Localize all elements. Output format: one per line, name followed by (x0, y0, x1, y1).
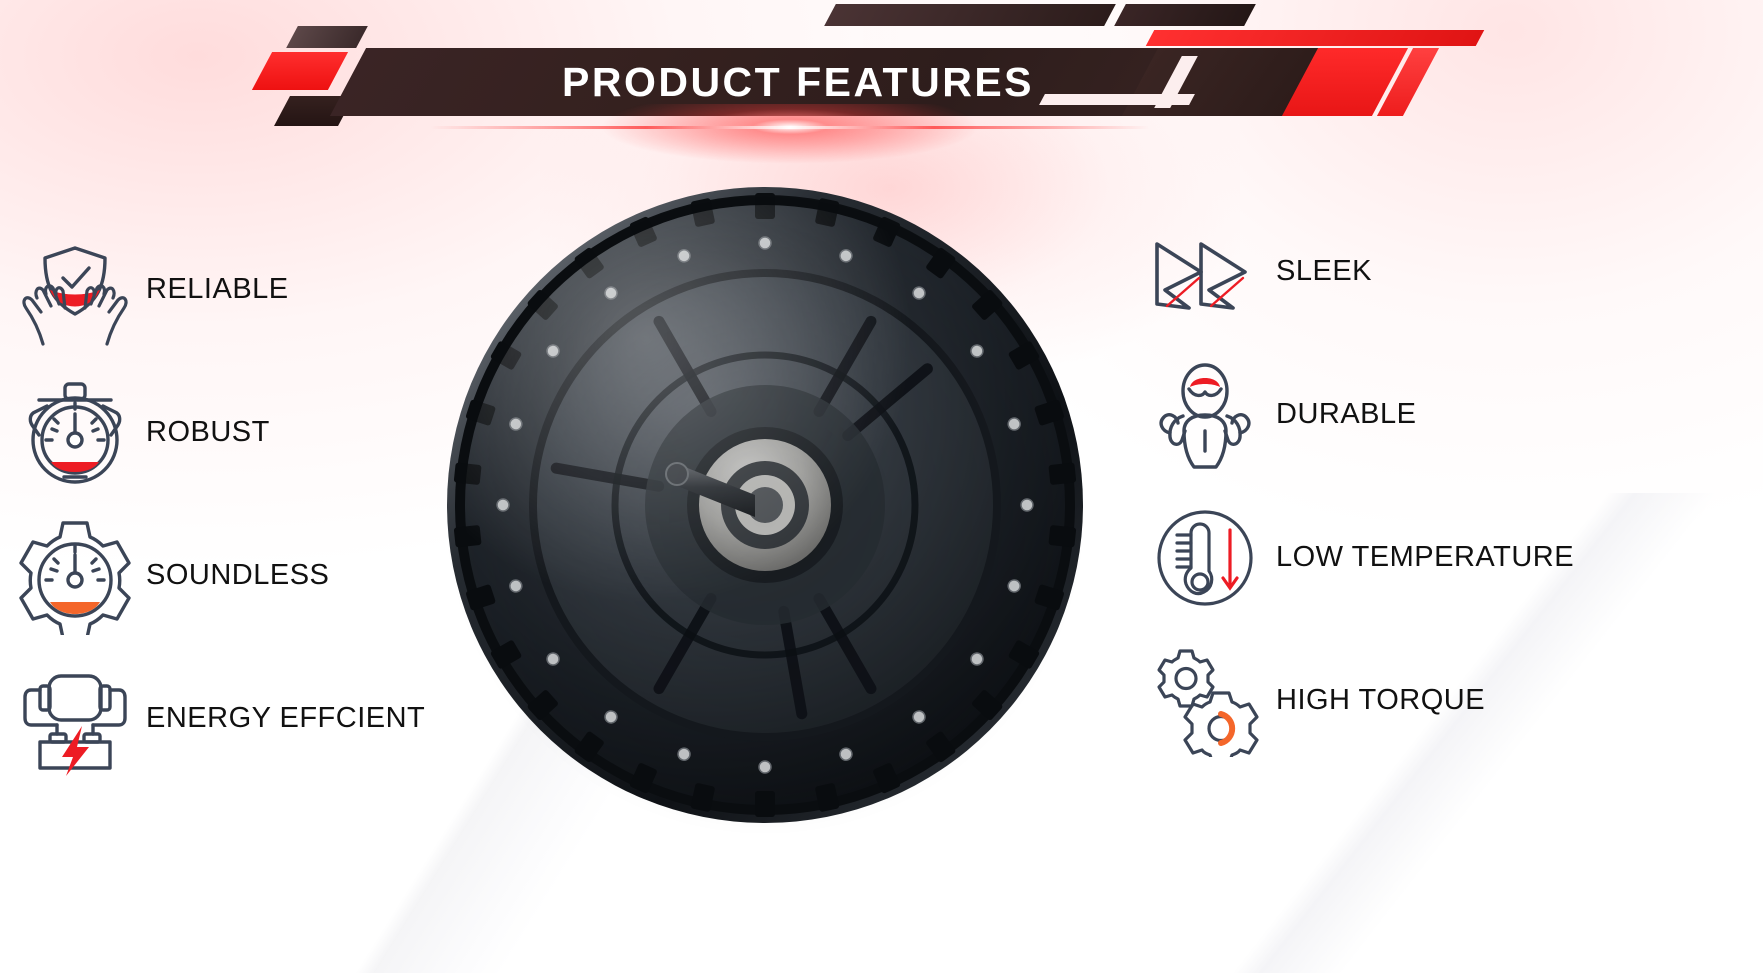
banner-accent-bar-top (824, 4, 1116, 26)
feature-label: LOW TEMPERATURE (1270, 541, 1574, 574)
banner-accent-bar-red-top (1146, 30, 1485, 46)
feature-item-low-temperature[interactable]: LOW TEMPERATURE (1140, 486, 1760, 629)
page-title: PRODUCT FEATURES (348, 48, 1248, 116)
feature-label: HIGH TORQUE (1270, 684, 1485, 717)
features-column-left: RELIABLE (10, 218, 430, 790)
banner-accent-parallelogram-gray (286, 26, 368, 48)
strong-person-icon (1140, 355, 1270, 475)
hub-motor-photo (425, 165, 1105, 845)
product-shadow (455, 205, 1075, 825)
motor-battery-bolt-icon (10, 659, 140, 779)
feature-item-reliable[interactable]: RELIABLE (10, 218, 430, 361)
feature-item-robust[interactable]: ROBUST (10, 361, 430, 504)
feature-label: ROBUST (140, 416, 270, 449)
features-column-right: SLEEK DURABLE (1140, 200, 1760, 772)
header-banner: PRODUCT FEATURES (0, 0, 1763, 150)
feature-label: ENERGY EFFCIENT (140, 702, 425, 735)
feature-label: SOUNDLESS (140, 559, 329, 592)
feature-label: DURABLE (1270, 398, 1417, 431)
feature-item-sleek[interactable]: SLEEK (1140, 200, 1760, 343)
banner-accent-parallelogram-red (252, 52, 348, 90)
feature-item-durable[interactable]: DURABLE (1140, 343, 1760, 486)
gears-icon (1140, 641, 1270, 761)
banner-accent-bar-top-2 (1114, 4, 1256, 26)
banner-glow-line (430, 126, 1150, 129)
double-chevron-icon (1140, 212, 1270, 332)
thermometer-down-icon (1140, 498, 1270, 618)
feature-label: SLEEK (1270, 255, 1372, 288)
feature-item-soundless[interactable]: SOUNDLESS (10, 504, 430, 647)
feature-item-energy-effcient[interactable]: ENERGY EFFCIENT (10, 647, 430, 790)
stopwatch-icon (10, 373, 140, 493)
feature-label: RELIABLE (140, 273, 289, 306)
shield-hands-icon (10, 230, 140, 350)
feature-item-high-torque[interactable]: HIGH TORQUE (1140, 629, 1760, 772)
gear-gauge-icon (10, 516, 140, 636)
